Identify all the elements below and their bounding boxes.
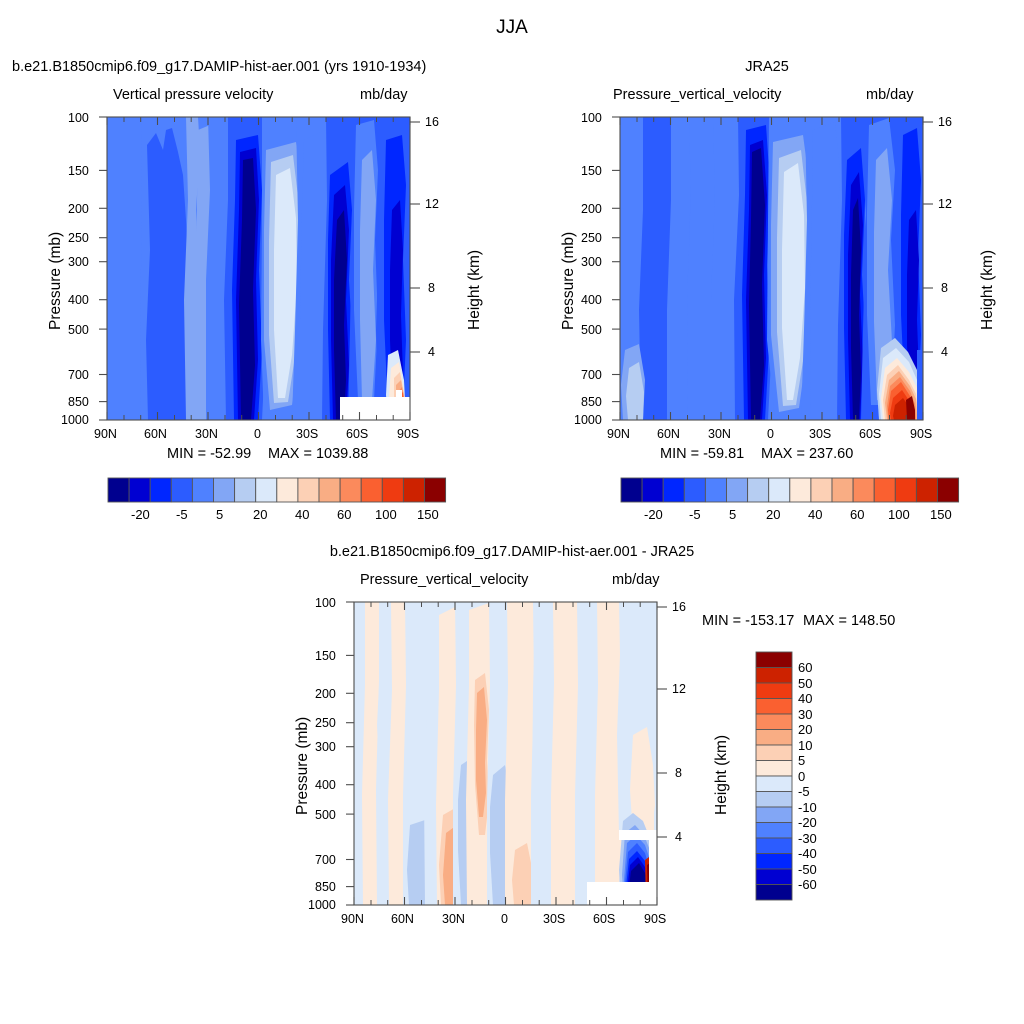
y-axis-title-diff: Pressure (mb) xyxy=(295,717,311,815)
colorbar-tick-label: -50 xyxy=(798,863,817,876)
colorbar-cell xyxy=(192,478,213,502)
colorbar-cell xyxy=(642,478,663,502)
colorbar-cell xyxy=(853,478,874,502)
colorbar-cell xyxy=(769,478,790,502)
colorbar-cell xyxy=(382,478,403,502)
min-label-obs: MIN = -59.81 xyxy=(660,447,744,462)
colorbar-cell xyxy=(108,478,129,502)
colorbar-tick-label: -20 xyxy=(798,816,817,829)
min-label-diff: MIN = -153.17 xyxy=(702,614,794,629)
colorbar-cell xyxy=(298,478,319,502)
colorbar-cell xyxy=(214,478,235,502)
colorbar-cell xyxy=(916,478,937,502)
colorbar-cell xyxy=(756,838,792,854)
colorbar-cell xyxy=(790,478,811,502)
colorbar-cell xyxy=(171,478,192,502)
colorbar-cell xyxy=(663,478,684,502)
colorbar-cell xyxy=(756,745,792,761)
colorbar-cell xyxy=(129,478,150,502)
colorbar-cell xyxy=(235,478,256,502)
contour-field-diff xyxy=(354,602,657,905)
min-label-model: MIN = -52.99 xyxy=(167,447,251,462)
colorbar-cell xyxy=(938,478,959,502)
colorbar-cell xyxy=(756,730,792,746)
colorbar-cell xyxy=(756,652,792,668)
colorbar-cell xyxy=(277,478,298,502)
colorbar-cell xyxy=(403,478,424,502)
colorbar-tick-label: 40 xyxy=(798,692,812,705)
colorbar-cell xyxy=(832,478,853,502)
colorbar-cell xyxy=(425,478,446,502)
colorbar-cell xyxy=(756,714,792,730)
colorbar-cells xyxy=(621,478,959,502)
max-label-diff: MAX = 148.50 xyxy=(803,614,895,629)
colorbar-cell xyxy=(756,854,792,870)
colorbar-obs[interactable] xyxy=(613,474,973,526)
contour-field-model xyxy=(107,117,410,420)
colorbar-cells xyxy=(108,478,446,502)
colorbar-tick-label: 60 xyxy=(798,661,812,674)
page-title: JJA xyxy=(0,18,1024,37)
colorbar-tick-label: -30 xyxy=(798,832,817,845)
colorbar-tick-label: 0 xyxy=(798,770,805,783)
colorbar-cell xyxy=(756,823,792,839)
y-axis-title-model: Pressure (mb) xyxy=(48,232,64,330)
colorbar-cell xyxy=(748,478,769,502)
colorbar-cell xyxy=(319,478,340,502)
colorbar-tick-label: 50 xyxy=(798,677,812,690)
plot-model xyxy=(0,100,500,440)
colorbar-cell xyxy=(756,792,792,808)
contour-field-obs xyxy=(620,117,923,420)
colorbar-tick-label: -10 xyxy=(798,801,817,814)
colorbar-cell xyxy=(895,478,916,502)
y-axis-title-obs: Pressure (mb) xyxy=(561,232,577,330)
y-axis-right-ticks-diff xyxy=(657,607,667,837)
colorbar-tick-label: 20 xyxy=(798,723,812,736)
y-axis-right-title-model: Height (km) xyxy=(467,250,483,330)
y-axis-right-title-obs: Height (km) xyxy=(980,250,996,330)
colorbar-cell xyxy=(684,478,705,502)
y-axis-ticks-obs xyxy=(612,117,620,420)
colorbar-cells xyxy=(756,652,792,900)
colorbar-model[interactable] xyxy=(100,474,460,526)
max-label-obs: MAX = 237.60 xyxy=(761,447,853,462)
colorbar-tick-label: -5 xyxy=(798,785,810,798)
y-axis-ticks-diff xyxy=(346,602,354,905)
y-axis-right-title-diff: Height (km) xyxy=(714,735,730,815)
colorbar-cell xyxy=(361,478,382,502)
max-label-model: MAX = 1039.88 xyxy=(268,447,368,462)
colorbar-cell xyxy=(874,478,895,502)
colorbar-cell xyxy=(756,699,792,715)
colorbar-tick-label: -60 xyxy=(798,878,817,891)
colorbar-tick-label: -40 xyxy=(798,847,817,860)
colorbar-cell xyxy=(340,478,361,502)
colorbar-cell xyxy=(756,776,792,792)
colorbar-cell xyxy=(756,885,792,901)
colorbar-cell xyxy=(256,478,277,502)
colorbar-cell xyxy=(811,478,832,502)
plot-diff xyxy=(247,585,747,925)
y-axis-right-ticks-model xyxy=(410,122,420,352)
y-axis-right-ticks-obs xyxy=(923,122,933,352)
panel-title-diff: b.e21.B1850cmip6.f09_g17.DAMIP-hist-aer.… xyxy=(0,545,1024,560)
colorbar-cell xyxy=(727,478,748,502)
colorbar-cell xyxy=(756,807,792,823)
colorbar-tick-label: 5 xyxy=(798,754,805,767)
colorbar-cell xyxy=(756,869,792,885)
colorbar-cell xyxy=(150,478,171,502)
colorbar-cell xyxy=(756,683,792,699)
plot-obs xyxy=(513,100,1013,440)
colorbar-cell xyxy=(705,478,726,502)
colorbar-cell xyxy=(621,478,642,502)
colorbar-tick-label: 30 xyxy=(798,708,812,721)
panel-title-obs: JRA25 xyxy=(0,60,1024,75)
colorbar-tick-label: 10 xyxy=(798,739,812,752)
colorbar-cell xyxy=(756,761,792,777)
y-axis-ticks-model xyxy=(99,117,107,420)
colorbar-cell xyxy=(756,668,792,684)
